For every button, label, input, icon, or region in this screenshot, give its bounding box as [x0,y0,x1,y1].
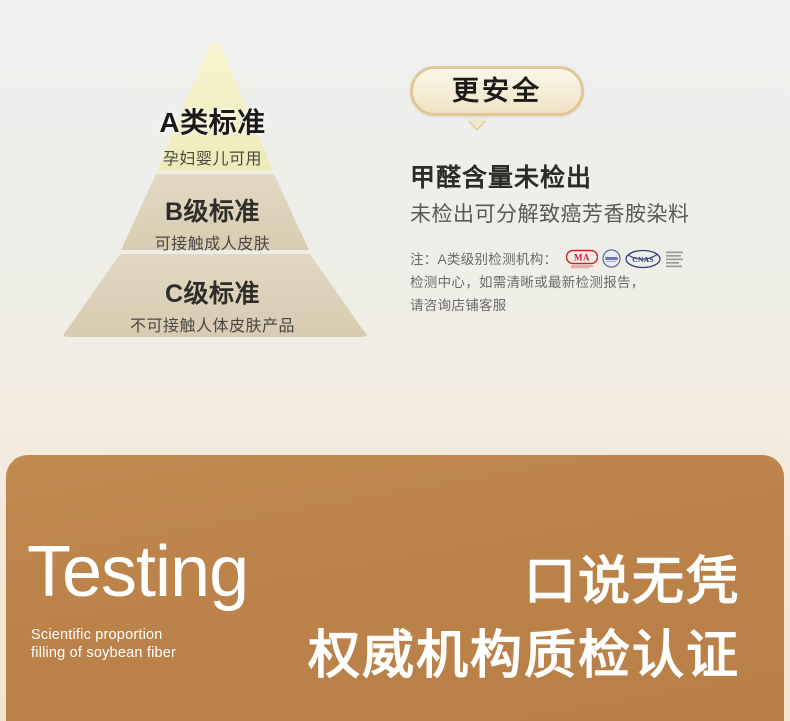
page-root: A类标准 孕妇婴儿可用 B级标准 可接触成人皮肤 C级标准 不可接触人体皮肤产品… [0,0,790,721]
cnas-logo: CNAS [625,249,661,269]
svg-text:MA: MA [574,252,590,262]
testing-note: 注：A类级别检测机构： MA [410,248,760,317]
certification-logos: MA [566,249,685,269]
pyramid-tier-b [121,174,309,250]
note-line-2: 检测中心，如需清晰或最新检测报告， [410,271,760,294]
testing-banner-cn-line-2: 权威机构质检认证 [308,630,740,682]
note-line-1-text: 注：A类级别检测机构： [410,248,557,271]
inspection-seal-logo [602,249,621,268]
testing-banner-cn-line-1: 口说无凭 [524,556,740,608]
testing-banner-english-subtitle: Scientific proportion filling of soybean… [31,626,176,662]
more-safe-badge-body: 更安全 [410,66,584,116]
pyramid-tier-a [157,43,273,171]
headline-formaldehyde: 甲醛含量未检出 [410,163,760,193]
note-line-1: 注：A类级别检测机构： MA [410,248,760,271]
svg-text:CNAS: CNAS [633,255,654,264]
subhead-azo-dye: 未检出可分解致癌芳香胺染料 [410,202,760,228]
more-safe-badge-label: 更安全 [452,78,542,105]
cma-logo: MA [566,249,598,269]
note-line-3: 请咨询店铺客服 [410,294,760,317]
safety-info-column: 更安全 甲醛含量未检出 未检出可分解致癌芳香胺染料 注：A类级别检测机构： MA [410,66,760,317]
pyramid-shape [35,40,390,345]
testing-banner-english-title: Testing [27,536,248,608]
testing-banner-english-subtitle-line2: filling of soybean fiber [31,645,176,661]
badge-pointer-icon [468,119,486,129]
cert-code-block [665,249,685,269]
testing-banner-english-subtitle-line1: Scientific proportion [31,627,163,643]
grade-pyramid: A类标准 孕妇婴儿可用 B级标准 可接触成人皮肤 C级标准 不可接触人体皮肤产品 [35,40,390,345]
pyramid-tier-c [63,254,366,337]
more-safe-badge: 更安全 [410,66,588,134]
